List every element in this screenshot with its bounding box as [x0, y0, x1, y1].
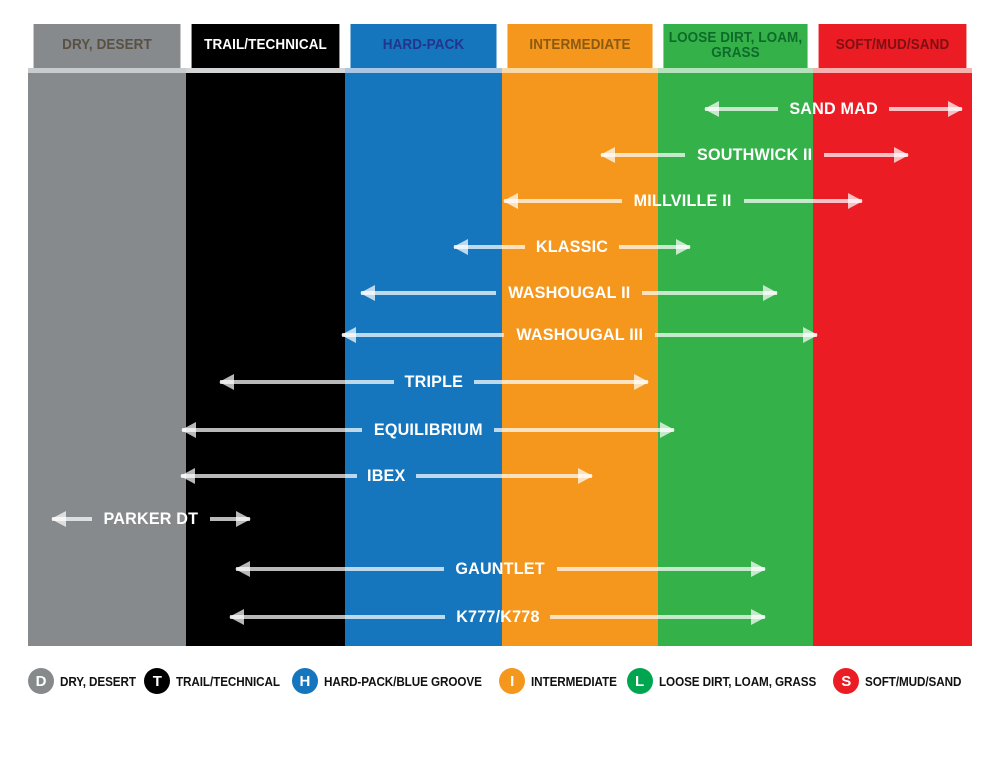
legend-item-l[interactable]: LLOOSE DIRT, LOAM, GRASS [627, 668, 834, 694]
column-header-intermediate: INTERMEDIATE [507, 24, 652, 68]
column-header-hardpack: HARD-PACK [350, 24, 496, 68]
column-header-label: HARD-PACK [383, 38, 464, 53]
arrow-left-icon [230, 615, 445, 619]
tire-range-row[interactable]: PARKER DT [52, 506, 250, 532]
column-header-soft: SOFT/MUD/SAND [819, 24, 967, 68]
tire-model-label: TRIPLE [405, 372, 464, 392]
legend-badge-icon: D [28, 668, 54, 694]
tire-range-row[interactable]: K777/K778 [230, 604, 765, 630]
legend-label: LOOSE DIRT, LOAM, GRASS [659, 674, 816, 689]
tire-range-row[interactable]: KLASSIC [454, 234, 690, 260]
tire-model-label: IBEX [367, 466, 405, 486]
tire-model-label: WASHOUGAL III [516, 325, 643, 345]
legend-item-t[interactable]: TTRAIL/TECHNICAL [144, 668, 292, 694]
legend-item-s[interactable]: SSOFT/MUD/SAND [833, 668, 972, 694]
arrow-right-icon [642, 291, 777, 295]
arrow-left-icon [52, 517, 92, 521]
arrow-right-icon [210, 517, 250, 521]
arrow-left-icon [705, 107, 778, 111]
legend-badge-icon: L [627, 668, 653, 694]
tire-model-label: K777/K778 [456, 607, 539, 627]
arrow-right-icon [494, 428, 674, 432]
arrow-left-icon [342, 333, 504, 337]
tire-model-label: WASHOUGAL II [508, 283, 630, 303]
arrow-left-icon [220, 380, 394, 384]
arrow-right-icon [655, 333, 817, 337]
tire-range-row[interactable]: WASHOUGAL II [361, 280, 777, 306]
arrow-left-icon [601, 153, 685, 157]
tire-range-row[interactable]: IBEX [181, 463, 592, 489]
legend-label: INTERMEDIATE [531, 674, 617, 689]
column-header-label: SOFT/MUD/SAND [836, 38, 950, 53]
column-header-label: LOOSE DIRT, LOAM, GRASS [667, 31, 804, 62]
column-header-label: DRY, DESERT [62, 38, 152, 53]
terrain-legend: DDRY, DESERTTTRAIL/TECHNICALHHARD-PACK/B… [28, 663, 972, 699]
terrain-header-band: DRY, DESERTTRAIL/TECHNICALHARD-PACKINTER… [28, 24, 972, 68]
arrow-right-icon [550, 615, 765, 619]
column-band-dry [28, 73, 186, 646]
legend-label: HARD-PACK/BLUE GROOVE [324, 674, 482, 689]
arrow-left-icon [361, 291, 496, 295]
arrow-right-icon [416, 474, 592, 478]
legend-label: DRY, DESERT [60, 674, 136, 689]
tire-range-row[interactable]: WASHOUGAL III [342, 322, 817, 348]
tire-range-row[interactable]: TRIPLE [220, 369, 648, 395]
arrow-right-icon [889, 107, 962, 111]
legend-item-d[interactable]: DDRY, DESERT [28, 668, 144, 694]
arrow-left-icon [236, 567, 444, 571]
legend-label: TRAIL/TECHNICAL [176, 674, 280, 689]
tire-range-row[interactable]: GAUNTLET [236, 556, 765, 582]
arrow-left-icon [504, 199, 622, 203]
terrain-chart-page: DRY, DESERTTRAIL/TECHNICALHARD-PACKINTER… [0, 0, 1000, 769]
legend-badge-icon: S [833, 668, 859, 694]
legend-item-i[interactable]: IINTERMEDIATE [499, 668, 626, 694]
tire-range-row[interactable]: SOUTHWICK II [601, 142, 908, 168]
legend-badge-icon: H [292, 668, 318, 694]
legend-label: SOFT/MUD/SAND [865, 674, 961, 689]
arrow-right-icon [619, 245, 690, 249]
arrow-left-icon [454, 245, 525, 249]
legend-badge-icon: I [499, 668, 525, 694]
legend-badge-icon: T [144, 668, 170, 694]
tire-model-label: KLASSIC [536, 237, 608, 257]
tire-model-label: MILLVILLE II [634, 191, 732, 211]
column-header-label: TRAIL/TECHNICAL [204, 38, 327, 53]
column-header-trail: TRAIL/TECHNICAL [192, 24, 340, 68]
tire-model-label: PARKER DT [104, 509, 199, 529]
arrow-left-icon [182, 428, 362, 432]
tire-model-label: GAUNTLET [456, 559, 545, 579]
column-header-dry: DRY, DESERT [34, 24, 181, 68]
column-header-loose: LOOSE DIRT, LOAM, GRASS [663, 24, 807, 68]
tire-range-row[interactable]: MILLVILLE II [504, 188, 862, 214]
column-header-label: INTERMEDIATE [529, 38, 630, 53]
tire-model-label: SAND MAD [789, 99, 878, 119]
arrow-right-icon [824, 153, 908, 157]
arrow-right-icon [557, 567, 765, 571]
arrow-left-icon [181, 474, 357, 478]
tire-model-label: EQUILIBRIUM [374, 420, 483, 440]
arrow-right-icon [474, 380, 648, 384]
tire-range-row[interactable]: EQUILIBRIUM [182, 417, 674, 443]
legend-item-h[interactable]: HHARD-PACK/BLUE GROOVE [292, 668, 499, 694]
tire-model-label: SOUTHWICK II [697, 145, 812, 165]
tire-range-row[interactable]: SAND MAD [705, 96, 962, 122]
arrow-right-icon [744, 199, 862, 203]
